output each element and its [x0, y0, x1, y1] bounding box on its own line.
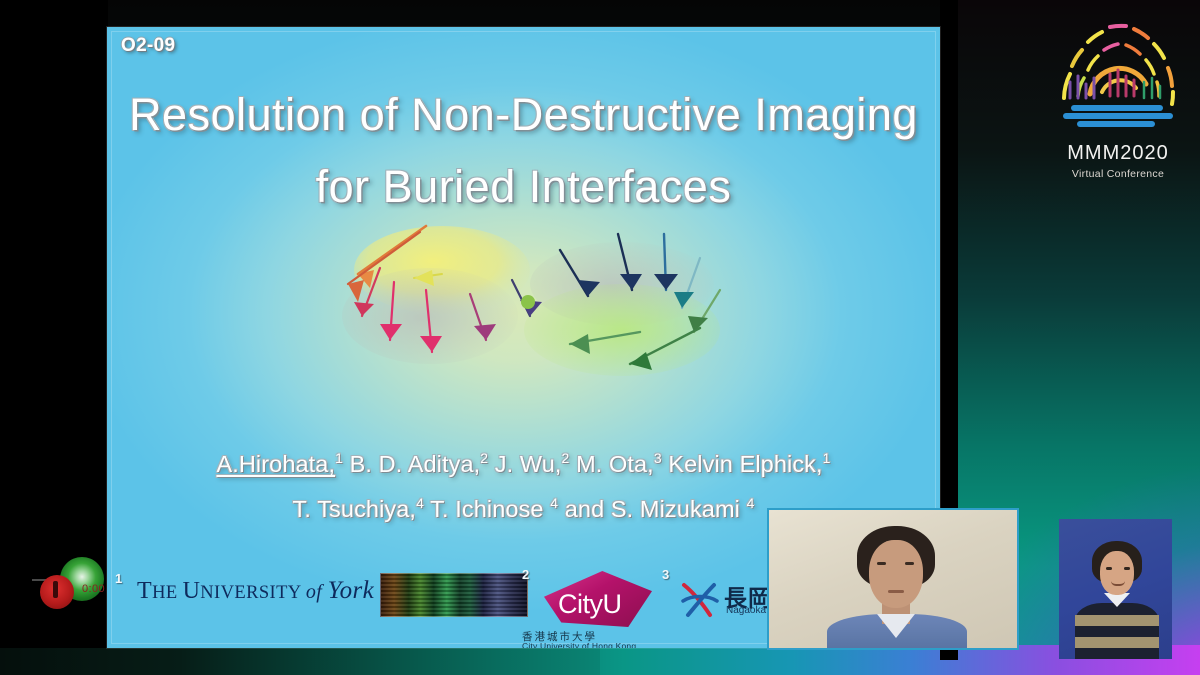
speaker-eye-right	[905, 562, 914, 565]
author-affil-sup: 4	[416, 495, 424, 511]
vector-figure-svg	[322, 212, 752, 402]
conference-subtitle: Virtual Conference	[1048, 168, 1188, 180]
screen-root: O2-09 Resolution of Non-Destructive Imag…	[0, 0, 1200, 675]
recording-overlay[interactable]: 0:00	[38, 555, 118, 615]
participant-sweater-stripe	[1075, 637, 1159, 648]
mmm2020-sunset-icon	[1048, 12, 1188, 128]
participant-eye-left	[1106, 567, 1112, 570]
cityu-wordmark: CityU	[558, 589, 622, 620]
title-line-1: Resolution of Non-Destructive Imaging	[129, 89, 918, 140]
speaker-eye-left	[877, 562, 886, 565]
speaker-webcam-main[interactable]	[767, 508, 1019, 650]
york-niversity: NIVERSITY	[200, 583, 306, 603]
speaker-face	[869, 540, 923, 608]
author-affil-sup: 3	[654, 450, 662, 466]
york-banner-image	[380, 573, 528, 617]
participant-sweater	[1075, 603, 1159, 659]
speaker-mouth	[888, 590, 904, 593]
york-wordmark: THE UNIVERSITY of York	[137, 577, 374, 605]
participant-portrait[interactable]	[1059, 519, 1172, 659]
cityu-english-name: City University of Hong Kong	[522, 641, 636, 648]
author-name: M. Ota,	[569, 451, 653, 477]
conference-logo: MMM2020 Virtual Conference	[1048, 12, 1188, 182]
recording-pause-bar	[53, 581, 58, 598]
magnetisation-vector-figure	[322, 212, 752, 402]
participant-face	[1100, 551, 1134, 595]
left-letterbox	[0, 0, 108, 648]
author-affil-sup: 1	[823, 450, 831, 466]
york-york: York	[328, 577, 375, 604]
author-affil-sup: 4	[550, 495, 558, 511]
york-t: T	[137, 578, 152, 604]
participant-eye-right	[1124, 567, 1130, 570]
author-name: Kelvin Elphick,	[662, 451, 823, 477]
slide-code-label: O2-09	[121, 35, 175, 57]
affiliation-number: 3	[662, 567, 669, 582]
york-u: U	[183, 578, 201, 604]
author-name: B. D. Aditya,	[343, 451, 480, 477]
conference-name: MMM2020	[1048, 142, 1188, 165]
recording-time: 0:00	[82, 583, 105, 595]
nagaoka-mark-icon	[680, 581, 720, 619]
author-name: T. Ichinose	[424, 496, 550, 522]
author-affil-sup: 2	[480, 450, 488, 466]
author-affil-sup: 4	[747, 495, 755, 511]
york-of: of	[306, 581, 328, 603]
york-he: HE	[152, 583, 183, 603]
author-name: T. Tsuchiya,	[293, 496, 417, 522]
presenting-author: A.Hirohata,	[216, 451, 335, 477]
page-title: Resolution of Non-Destructive Imaging fo…	[107, 79, 940, 223]
author-name: and S. Mizukami	[558, 496, 746, 522]
participant-sweater-stripe	[1075, 615, 1159, 626]
author-affil-sup: 1	[335, 450, 343, 466]
affiliation-number: 2	[522, 567, 529, 582]
author-name: J. Wu,	[488, 451, 561, 477]
author-line-1: A.Hirohata,1 B. D. Aditya,2 J. Wu,2 M. O…	[107, 439, 940, 484]
